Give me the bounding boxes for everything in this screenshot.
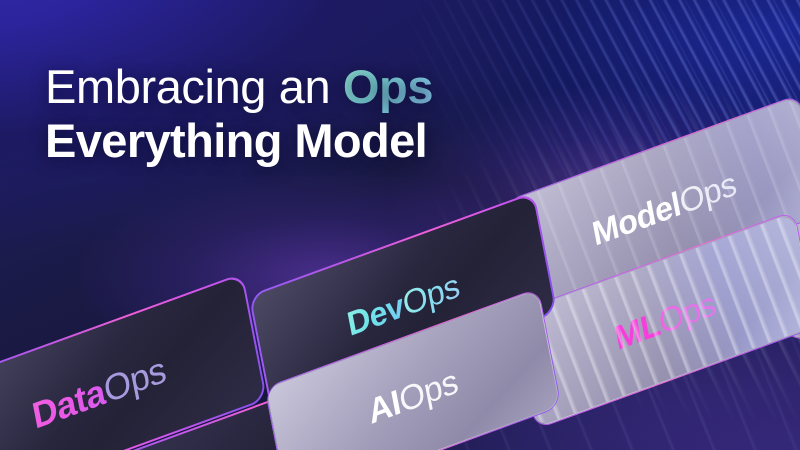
headline-accent-ops: Ops <box>343 60 433 113</box>
hero-graphic: ModelOps MLOps DevOps <box>0 0 800 450</box>
headline: Embracing an Ops Everything Model <box>45 62 433 166</box>
headline-line-1: Embracing an Ops <box>45 62 433 112</box>
headline-line-2: Everything Model <box>45 116 433 166</box>
headline-line-1-prefix: Embracing an <box>45 60 343 113</box>
